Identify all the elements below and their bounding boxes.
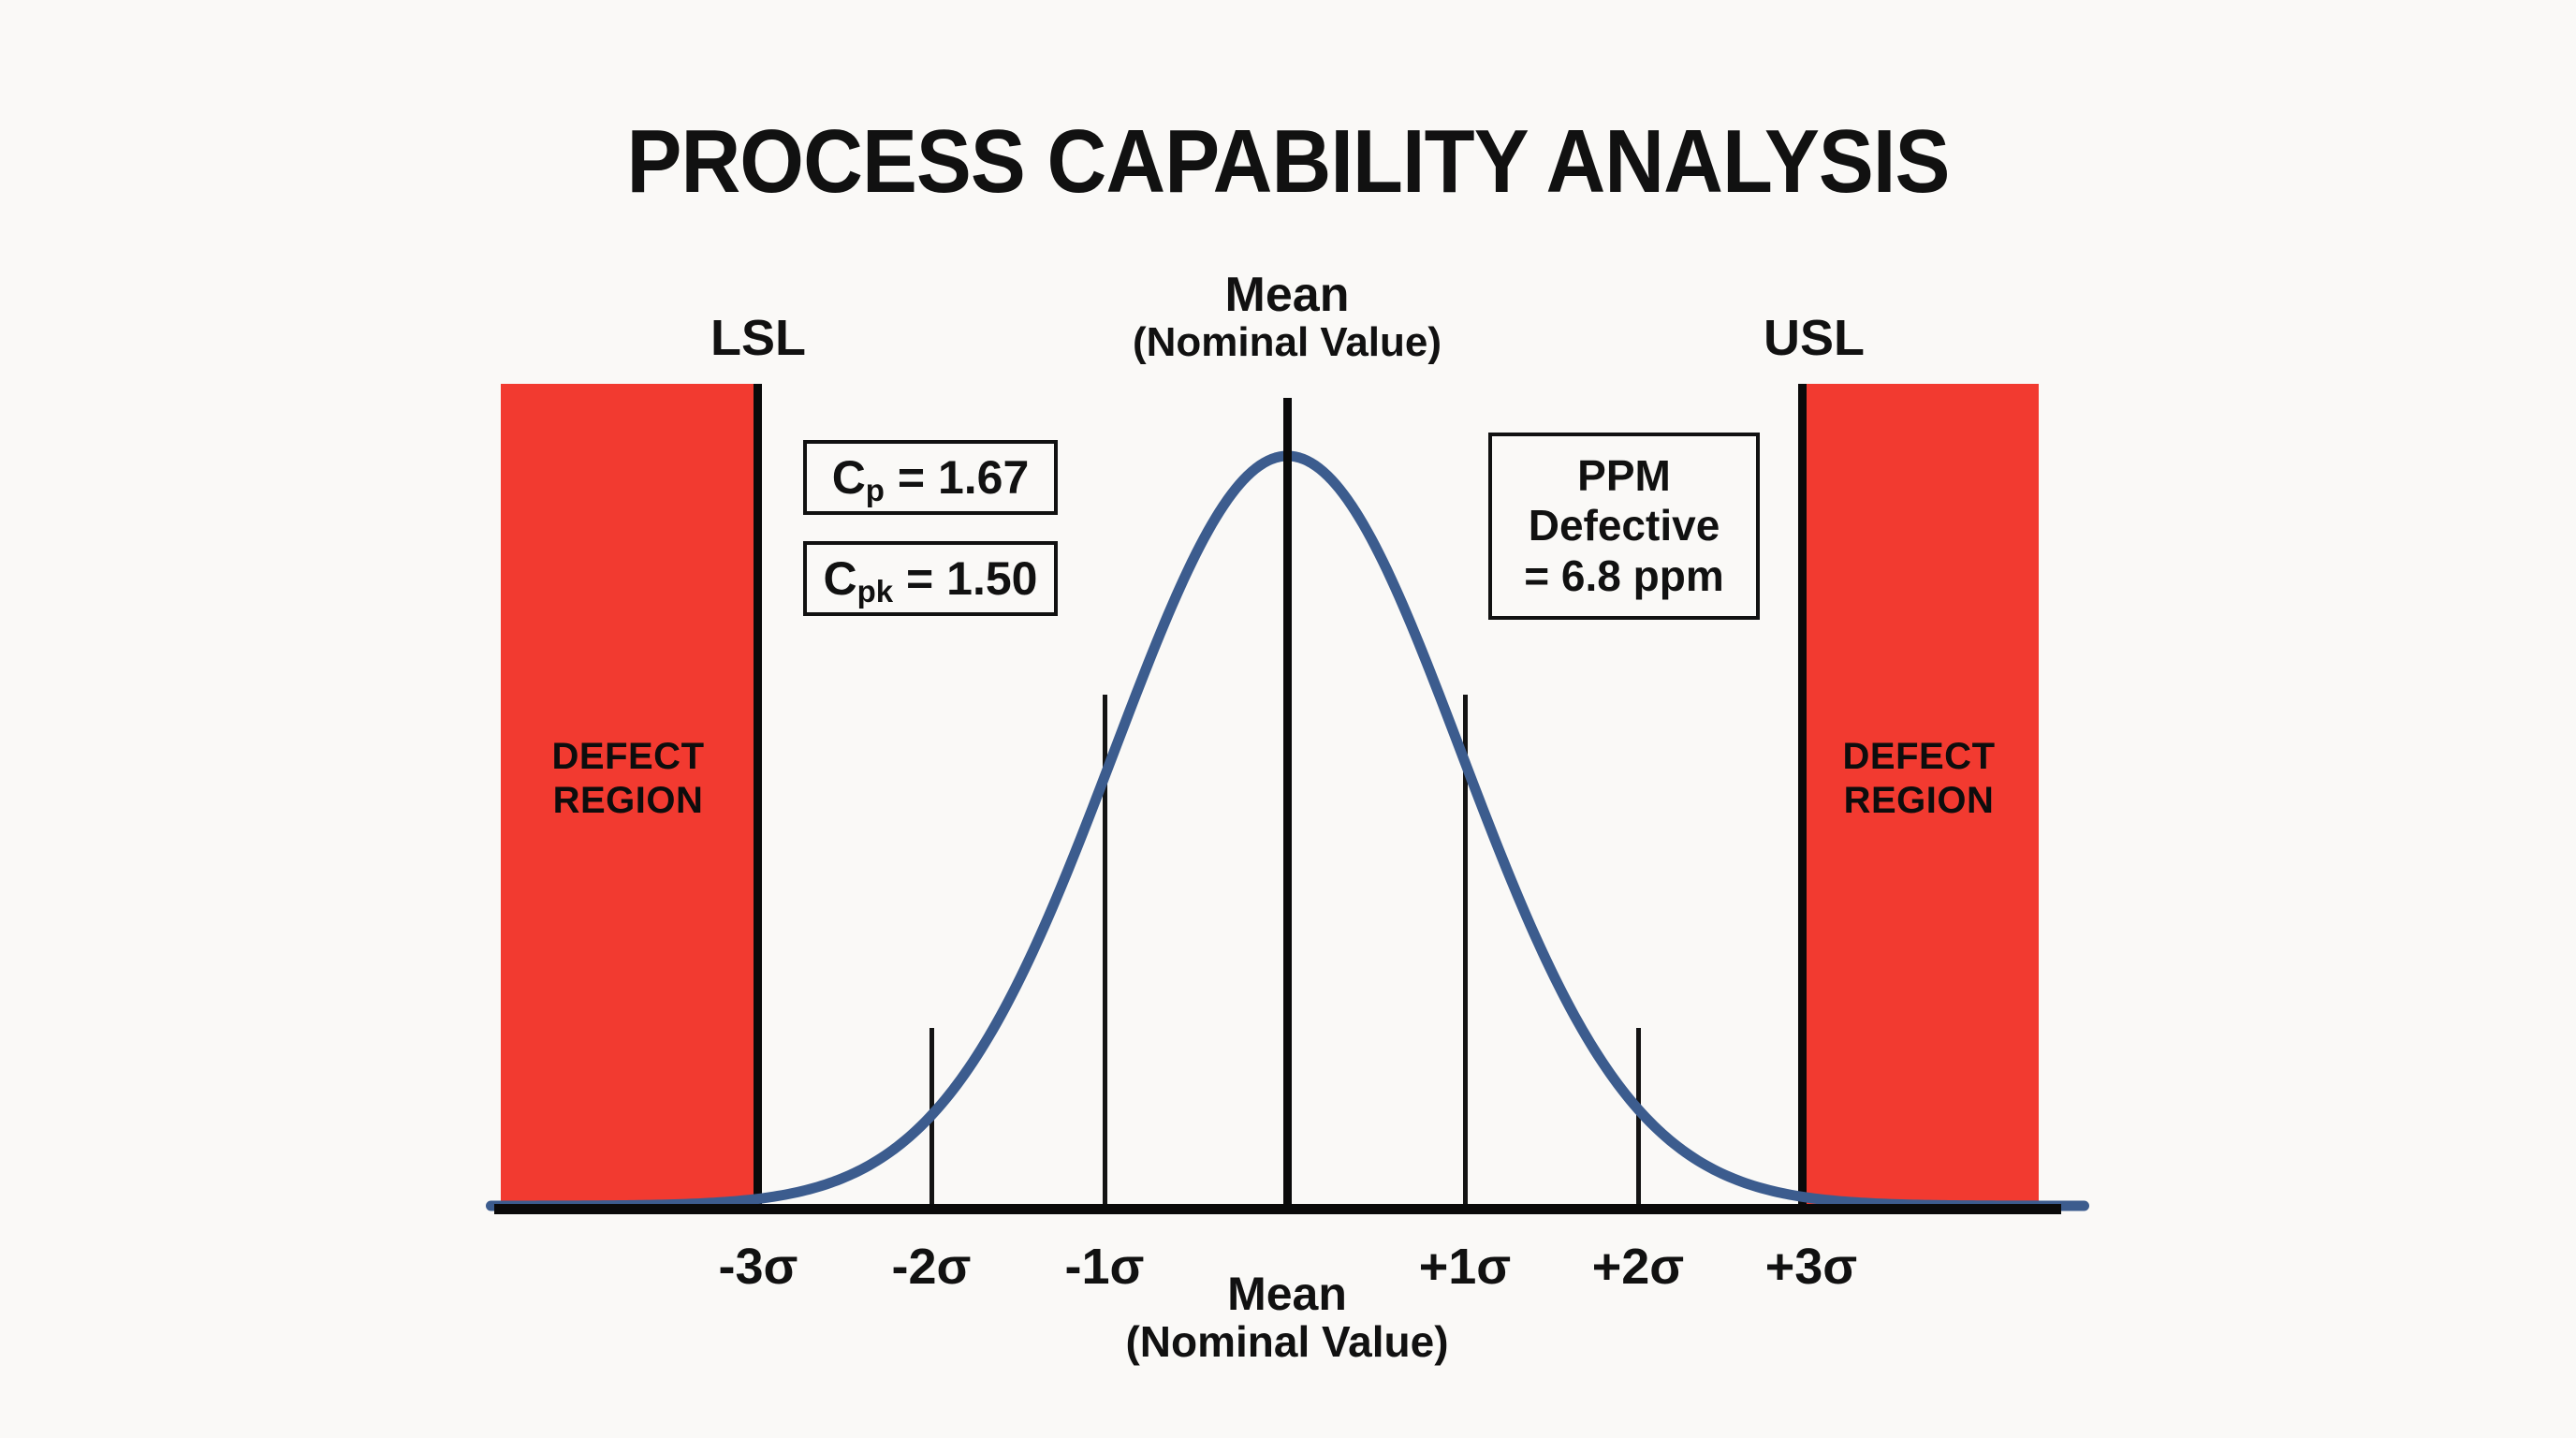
tick-label-plus-2-sigma: +2σ (1544, 1238, 1732, 1296)
mean-bottom-label: Mean (Nominal Value) (1006, 1269, 1568, 1366)
mean-top-main: Mean (1006, 270, 1568, 320)
cp-subscript: p (866, 473, 885, 507)
usl-line (1798, 384, 1807, 1206)
tick-label-plus-3-sigma: +3σ (1718, 1238, 1905, 1296)
mean-bottom-sub: (Nominal Value) (1006, 1319, 1568, 1366)
defect-region-label-left: DEFECT REGION (501, 735, 755, 823)
usl-label: USL (1692, 309, 1936, 367)
cpk-symbol: C (824, 552, 857, 605)
cpk-equals: = (906, 552, 933, 605)
ppm-defective-box: PPM Defective = 6.8 ppm (1488, 433, 1760, 620)
sigma-line-plus-2 (1636, 1028, 1641, 1206)
cpk-subscript: pk (857, 574, 894, 609)
cp-equals: = (898, 451, 925, 504)
cpk-stat-text: Cpk = 1.50 (824, 551, 1038, 606)
lsl-line (754, 384, 762, 1206)
sigma-line-plus-1 (1463, 695, 1468, 1206)
cpk-value: 1.50 (946, 552, 1037, 605)
cp-stat-box: Cp = 1.67 (803, 440, 1058, 515)
cp-value: 1.67 (938, 451, 1029, 504)
defect-label-line2: REGION (1844, 780, 1995, 821)
cpk-stat-box: Cpk = 1.50 (803, 541, 1058, 616)
x-axis (494, 1204, 2061, 1214)
defect-region-label-right: DEFECT REGION (1798, 735, 2040, 823)
process-capability-chart: PROCESS CAPABILITY ANALYSIS DEFECT REGIO… (0, 0, 2576, 1438)
plot-area: DEFECT REGION DEFECT REGION (0, 0, 2576, 1438)
mean-top-sub: (Nominal Value) (1006, 320, 1568, 365)
cp-symbol: C (832, 451, 866, 504)
ppm-line-3: = 6.8 ppm (1524, 551, 1723, 601)
mean-bottom-main: Mean (1006, 1269, 1568, 1319)
lsl-label: LSL (637, 309, 880, 367)
tick-label-minus-2-sigma: -2σ (838, 1238, 1025, 1296)
ppm-line-1: PPM (1577, 451, 1671, 501)
defect-label-line1: DEFECT (552, 736, 705, 777)
cp-stat-text: Cp = 1.67 (832, 450, 1030, 505)
sigma-line-minus-1 (1103, 695, 1107, 1206)
defect-label-line1: DEFECT (1843, 736, 1996, 777)
defect-label-line2: REGION (553, 780, 704, 821)
mean-line (1283, 398, 1292, 1206)
tick-label-minus-3-sigma: -3σ (665, 1238, 852, 1296)
sigma-line-minus-2 (929, 1028, 934, 1206)
ppm-line-2: Defective (1529, 501, 1720, 550)
mean-top-label: Mean (Nominal Value) (1006, 270, 1568, 365)
